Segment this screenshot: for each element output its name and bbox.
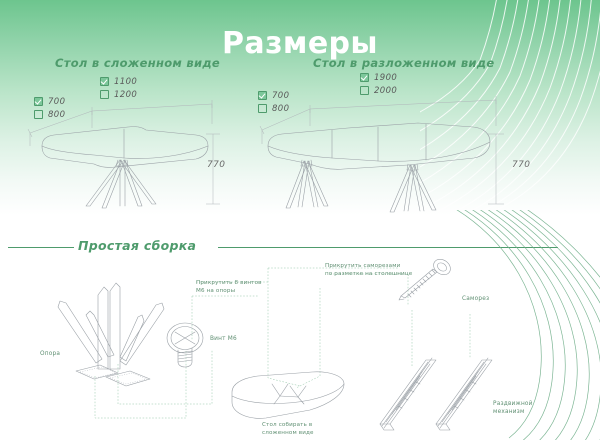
note-folded-assembly: Стол собирать в сложенном виде	[262, 421, 314, 437]
checkbox-empty-icon[interactable]	[258, 104, 267, 113]
checkbox-checked-icon[interactable]	[258, 91, 267, 100]
slide-mechanism-icon	[378, 348, 508, 432]
note-screws: Прикрутить 8 винтов М6 на опоры	[196, 279, 262, 295]
dimension-value: 1200	[114, 90, 137, 100]
unfolded-depth-options: 700 800	[258, 90, 289, 116]
dimension-row[interactable]: 700	[34, 96, 65, 107]
part-label-screw: Саморез	[462, 295, 489, 303]
part-label-leg: Опора	[40, 350, 60, 358]
note-selftapping: Прикрутить саморезами по разметке на сто…	[325, 262, 412, 278]
part-label-bolt: Винт М6	[210, 335, 237, 343]
dimension-row[interactable]: 700	[258, 90, 289, 101]
dimension-row[interactable]: 800	[34, 109, 65, 120]
unfolded-width-options: 1900 2000	[360, 72, 397, 98]
checkbox-checked-icon[interactable]	[100, 77, 109, 86]
folded-height-label: 770	[207, 160, 225, 170]
dimension-value: 2000	[374, 86, 397, 96]
dimension-value: 700	[48, 97, 65, 107]
assembly-title: Простая сборка	[78, 238, 196, 253]
checkbox-empty-icon[interactable]	[100, 90, 109, 99]
section-title-unfolded: Стол в разложенном виде	[313, 56, 494, 70]
bolt-icon	[163, 320, 211, 370]
dimension-value: 800	[48, 110, 65, 120]
dimension-row[interactable]: 2000	[360, 85, 397, 96]
poster-page: Размеры Стол в сложенном виде	[0, 0, 600, 440]
folded-width-options: 1100 1200	[100, 76, 137, 102]
checkbox-empty-icon[interactable]	[360, 86, 369, 95]
dimension-value: 800	[272, 104, 289, 114]
dimension-row[interactable]: 1900	[360, 72, 397, 83]
dimension-value: 1900	[374, 73, 397, 83]
part-label-mechanism: Раздвижной механизм	[493, 400, 533, 417]
section-title-folded: Стол в сложенном виде	[55, 56, 220, 70]
checkbox-checked-icon[interactable]	[34, 97, 43, 106]
checkbox-checked-icon[interactable]	[360, 73, 369, 82]
dimension-row[interactable]: 1200	[100, 89, 137, 100]
dimension-row[interactable]: 1100	[100, 76, 137, 87]
divider-left	[8, 247, 74, 248]
unfolded-table-drawing	[248, 86, 548, 214]
dimension-value: 1100	[114, 77, 137, 87]
tabletop-bottom-drawing	[228, 370, 348, 422]
folded-depth-options: 700 800	[34, 96, 65, 122]
unfolded-height-label: 770	[512, 160, 530, 170]
checkbox-empty-icon[interactable]	[34, 110, 43, 119]
dimension-value: 700	[272, 91, 289, 101]
dimension-row[interactable]: 800	[258, 103, 289, 114]
